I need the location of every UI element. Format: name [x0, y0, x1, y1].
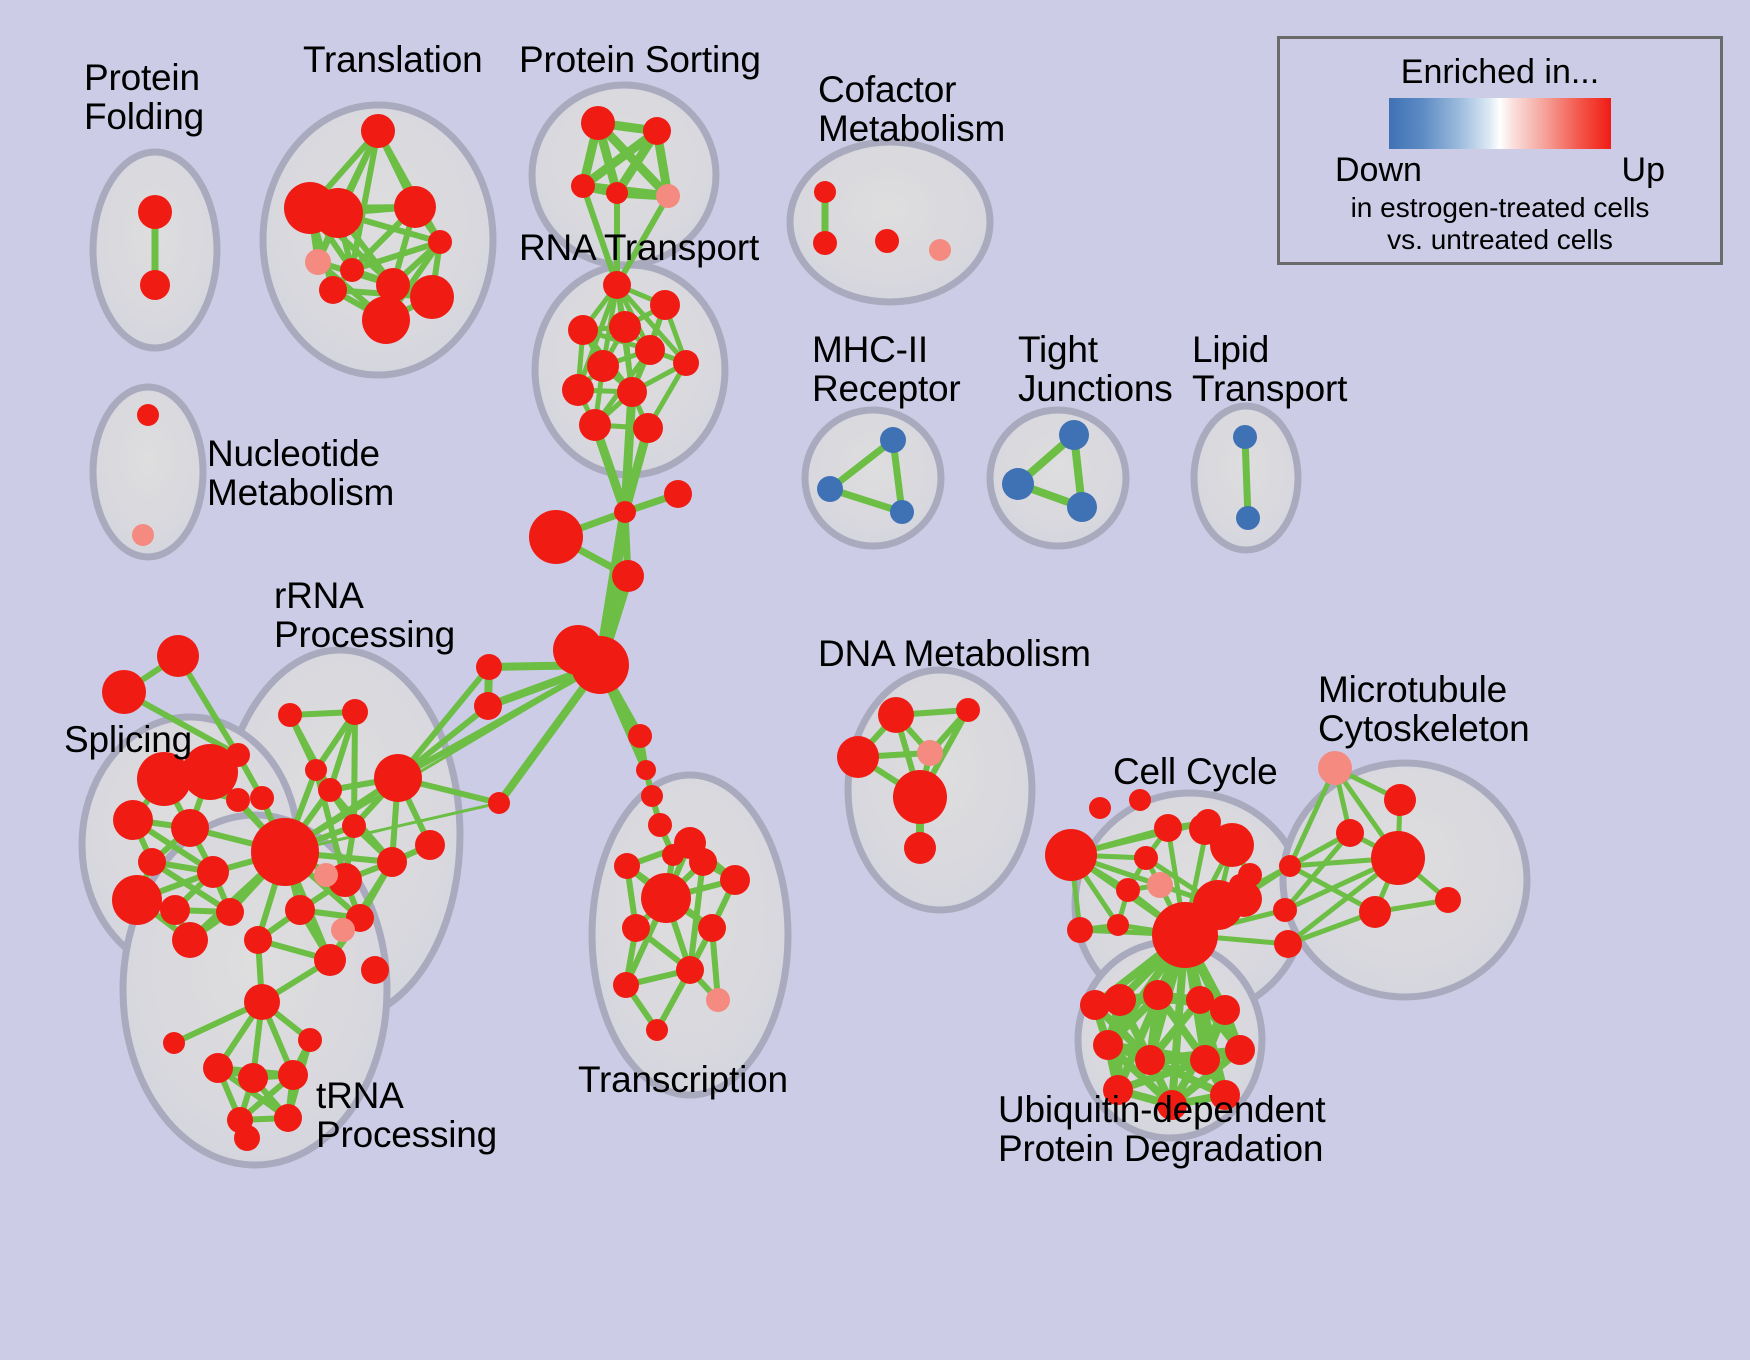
node	[1045, 829, 1097, 881]
cluster-label-tight-junctions: Tight Junctions	[1018, 330, 1173, 408]
legend-subtitle: in estrogen-treated cells vs. untreated …	[1351, 192, 1650, 256]
node	[875, 229, 899, 253]
node	[662, 844, 684, 866]
node	[1152, 902, 1218, 968]
node	[1147, 872, 1173, 898]
node	[1089, 797, 1111, 819]
node	[698, 914, 726, 942]
node	[1129, 789, 1151, 811]
node	[1336, 819, 1364, 847]
node	[1107, 914, 1129, 936]
node	[137, 404, 159, 426]
node	[650, 290, 680, 320]
node	[1002, 468, 1034, 500]
node	[1059, 420, 1089, 450]
node	[676, 956, 704, 984]
cluster-blob-transcription	[592, 775, 788, 1095]
cluster-blob-cofactor-metabolism	[790, 142, 990, 302]
node	[1236, 506, 1260, 530]
node	[529, 510, 583, 564]
legend-low-label: Down	[1335, 151, 1422, 190]
node	[720, 865, 750, 895]
node	[956, 698, 980, 722]
node	[140, 270, 170, 300]
node	[641, 785, 663, 807]
node	[1210, 995, 1240, 1025]
node	[172, 922, 208, 958]
node	[102, 670, 146, 714]
enrichment-map-figure: Protein Folding Translation Protein Sort…	[0, 0, 1750, 1360]
node	[226, 788, 250, 812]
node	[571, 174, 595, 198]
node	[1189, 813, 1221, 845]
node	[314, 863, 338, 887]
node	[617, 377, 647, 407]
node	[138, 195, 172, 229]
node	[1186, 986, 1214, 1014]
node	[1116, 878, 1140, 902]
node	[656, 184, 680, 208]
node	[609, 311, 641, 343]
node	[612, 560, 644, 592]
node	[587, 350, 619, 382]
node	[342, 814, 366, 838]
node	[488, 792, 510, 814]
node	[238, 1063, 268, 1093]
node	[1318, 751, 1352, 785]
node	[1080, 990, 1110, 1020]
node	[1274, 930, 1302, 958]
node	[643, 117, 671, 145]
node	[1190, 1045, 1220, 1075]
node	[568, 315, 598, 345]
node	[234, 1125, 260, 1151]
node	[171, 809, 209, 847]
node	[361, 956, 389, 984]
node	[318, 778, 342, 802]
cluster-label-translation: Translation	[303, 40, 482, 79]
node	[1384, 784, 1416, 816]
cluster-label-transcription: Transcription	[578, 1060, 788, 1099]
node	[646, 1019, 668, 1041]
cluster-label-cell-cycle: Cell Cycle	[1113, 752, 1278, 791]
node	[197, 856, 229, 888]
node	[278, 703, 302, 727]
node	[606, 182, 628, 204]
node	[163, 1032, 185, 1054]
node	[1134, 846, 1158, 870]
node	[340, 258, 364, 282]
node	[622, 914, 650, 942]
node	[1135, 1045, 1165, 1075]
node	[285, 895, 315, 925]
node	[614, 853, 640, 879]
node	[410, 275, 454, 319]
node	[216, 898, 244, 926]
node	[878, 697, 914, 733]
node	[342, 699, 368, 725]
cluster-label-rna-transport: RNA Transport	[519, 228, 759, 267]
node	[112, 875, 162, 925]
node	[1093, 1030, 1123, 1060]
node	[428, 230, 452, 254]
node	[603, 271, 631, 299]
node	[636, 760, 656, 780]
node	[476, 654, 502, 680]
cluster-label-nucleotide-metabolism: Nucleotide Metabolism	[207, 434, 394, 512]
node	[904, 832, 936, 864]
node	[837, 736, 879, 778]
node	[113, 800, 153, 840]
node	[377, 847, 407, 877]
node	[244, 984, 280, 1020]
legend-high-label: Up	[1622, 151, 1665, 190]
node	[331, 918, 355, 942]
cluster-label-trna-processing: tRNA Processing	[316, 1076, 497, 1154]
node	[394, 186, 436, 228]
node	[1233, 425, 1257, 449]
node	[613, 972, 639, 998]
node	[628, 724, 652, 748]
legend-title: Enriched in...	[1401, 53, 1599, 92]
node	[817, 476, 843, 502]
node	[929, 239, 951, 261]
node	[305, 249, 331, 275]
node	[278, 1060, 308, 1090]
node	[1067, 917, 1093, 943]
node	[1067, 492, 1097, 522]
node	[581, 106, 615, 140]
node	[138, 848, 166, 876]
node	[314, 944, 346, 976]
node	[633, 413, 663, 443]
node	[203, 1053, 233, 1083]
cluster-label-dna-metabolism: DNA Metabolism	[818, 634, 1091, 673]
node	[284, 182, 336, 234]
node	[362, 296, 410, 344]
node	[274, 1104, 302, 1132]
node	[1143, 980, 1173, 1010]
node	[1225, 1035, 1255, 1065]
node	[579, 409, 611, 441]
cluster-label-ubiquitin-protein-degradation: Ubiquitin-dependent Protein Degradation	[998, 1090, 1325, 1168]
node	[706, 988, 730, 1012]
cluster-label-cofactor-metabolism: Cofactor Metabolism	[818, 70, 1005, 148]
cluster-label-protein-folding: Protein Folding	[84, 58, 204, 136]
node	[813, 231, 837, 255]
node	[641, 873, 691, 923]
node	[319, 276, 347, 304]
node	[1273, 898, 1297, 922]
cluster-label-rrna-processing: rRNA Processing	[274, 576, 455, 654]
node	[1154, 814, 1182, 842]
node	[251, 818, 319, 886]
cluster-label-microtubule-cytoskeleton: Microtubule Cytoskeleton	[1318, 670, 1530, 748]
node	[664, 480, 692, 508]
node	[244, 926, 272, 954]
legend-endpoint-labels: Down Up	[1335, 151, 1665, 190]
node	[880, 427, 906, 453]
node	[917, 740, 943, 766]
node	[635, 335, 665, 365]
node	[673, 350, 699, 376]
node	[374, 754, 422, 802]
cluster-label-protein-sorting: Protein Sorting	[519, 40, 761, 79]
node	[305, 759, 327, 781]
cluster-label-mhc-ii-receptor: MHC-II Receptor	[812, 330, 961, 408]
node	[893, 770, 947, 824]
node	[298, 1028, 322, 1052]
node	[157, 635, 199, 677]
legend-color-gradient-bar	[1389, 98, 1611, 149]
node	[614, 501, 636, 523]
cluster-label-splicing: Splicing	[64, 720, 192, 759]
node	[648, 813, 672, 837]
node	[132, 524, 154, 546]
node	[890, 500, 914, 524]
node	[160, 895, 190, 925]
node	[562, 374, 594, 406]
legend-panel: Enriched in... Down Up in estrogen-treat…	[1277, 36, 1723, 265]
node	[1435, 887, 1461, 913]
node	[553, 625, 603, 675]
node	[250, 786, 274, 810]
node	[415, 830, 445, 860]
cluster-label-lipid-transport: Lipid Transport	[1192, 330, 1347, 408]
node	[814, 181, 836, 203]
node	[361, 114, 395, 148]
node	[1226, 881, 1262, 917]
node	[1279, 855, 1301, 877]
node	[1359, 896, 1391, 928]
node	[1371, 831, 1425, 885]
node	[474, 692, 502, 720]
